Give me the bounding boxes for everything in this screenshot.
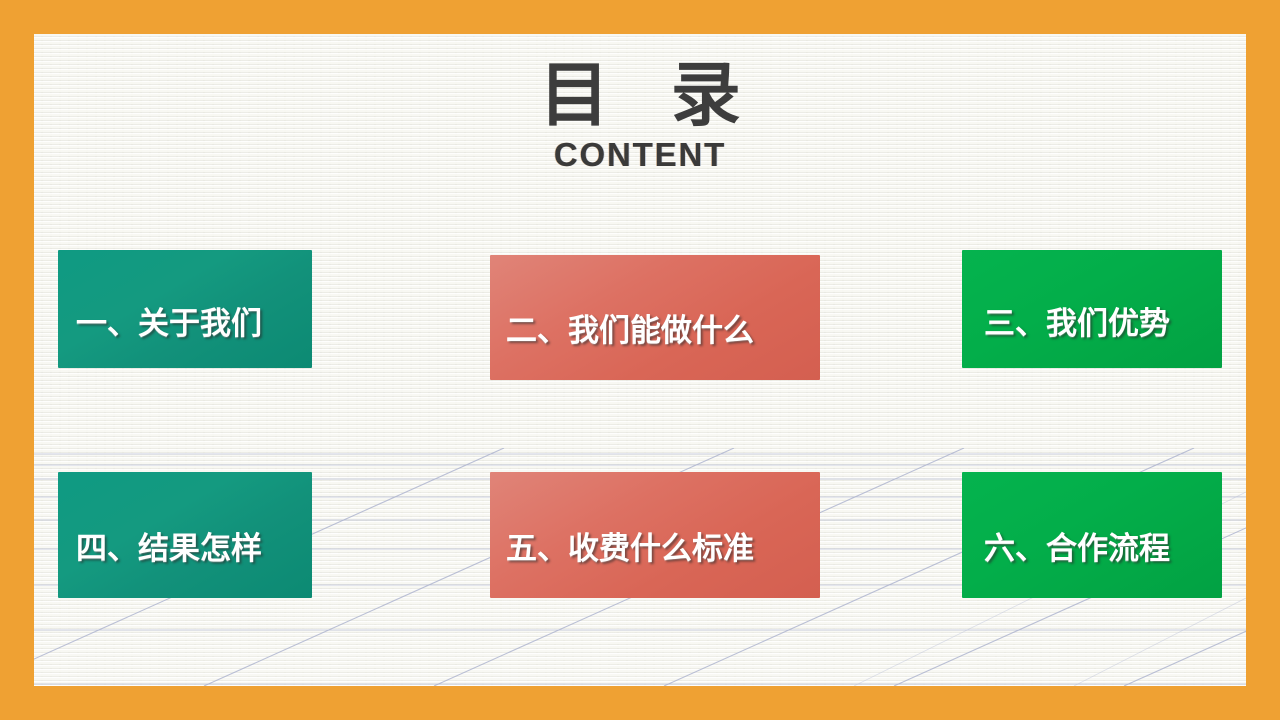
chapter-box-4[interactable]: 四、结果怎样 [58,472,312,598]
chapter-box-2[interactable]: 二、我们能做什么 [490,255,820,380]
slide-header: 目 录 CONTENT [34,56,1246,174]
chapter-label-5: 五、收费什么标准 [490,503,820,568]
chapter-label-1: 一、关于我们 [58,276,312,343]
chapter-box-3[interactable]: 三、我们优势 [962,250,1222,368]
page-title: 目 录 [34,56,1246,134]
slide-canvas: 目 录 CONTENT 一、关于我们 二、我们能做什么 三、我们优势 四、结果怎… [34,34,1246,686]
chapter-label-4: 四、结果怎样 [58,503,312,568]
presentation-slide: 目 录 CONTENT 一、关于我们 二、我们能做什么 三、我们优势 四、结果怎… [0,0,1280,720]
chapter-label-3: 三、我们优势 [962,276,1222,343]
chapter-label-6: 六、合作流程 [962,503,1222,568]
page-subtitle: CONTENT [34,136,1246,174]
chapter-box-6[interactable]: 六、合作流程 [962,472,1222,598]
chapter-box-1[interactable]: 一、关于我们 [58,250,312,368]
chapter-label-2: 二、我们能做什么 [490,285,820,350]
chapter-box-5[interactable]: 五、收费什么标准 [490,472,820,598]
